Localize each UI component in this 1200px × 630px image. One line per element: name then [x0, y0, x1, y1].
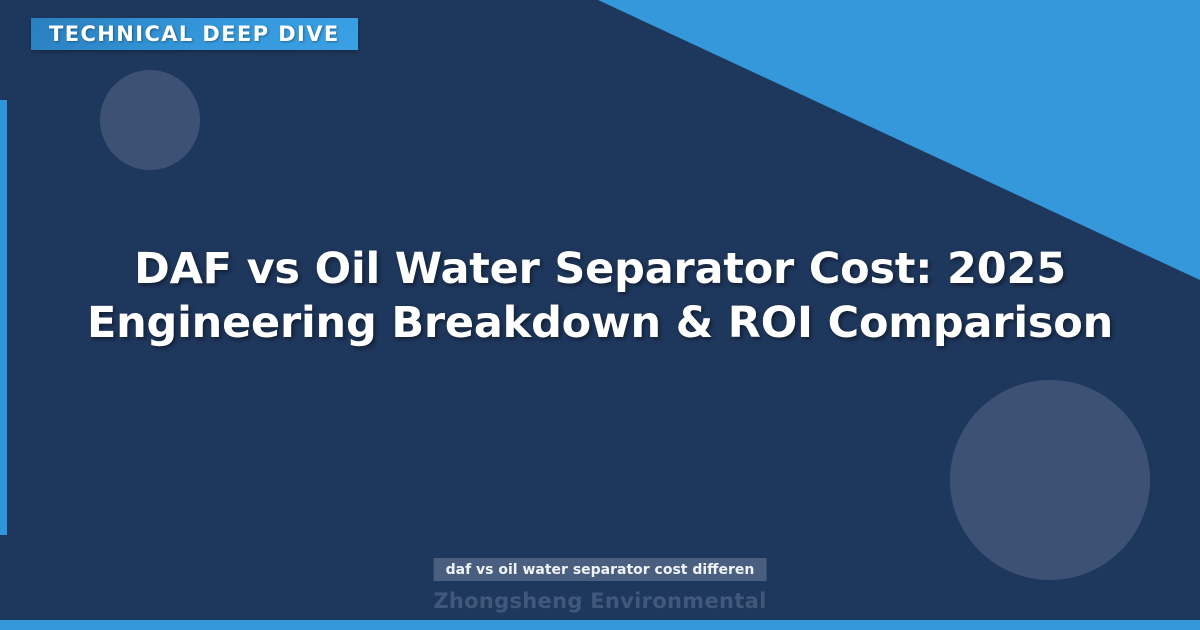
accent-bar-left: [0, 100, 7, 535]
circle-decoration-top-left: [100, 70, 200, 170]
social-share-card: TECHNICAL DEEP DIVE DAF vs Oil Water Sep…: [0, 0, 1200, 630]
category-badge: TECHNICAL DEEP DIVE: [31, 18, 358, 50]
category-badge-label: TECHNICAL DEEP DIVE: [49, 24, 340, 45]
footer-brand-label: Zhongsheng Environmental: [433, 589, 766, 613]
footer-brand: Zhongsheng Environmental: [0, 591, 1200, 612]
keyword-chip-label: daf vs oil water separator cost differen: [446, 563, 755, 577]
accent-bar-bottom: [0, 620, 1200, 630]
keyword-chip: daf vs oil water separator cost differen: [434, 558, 767, 581]
circle-decoration-bottom-right: [950, 380, 1150, 580]
headline-text: DAF vs Oil Water Separator Cost: 2025 En…: [60, 242, 1140, 350]
headline: DAF vs Oil Water Separator Cost: 2025 En…: [60, 242, 1140, 350]
